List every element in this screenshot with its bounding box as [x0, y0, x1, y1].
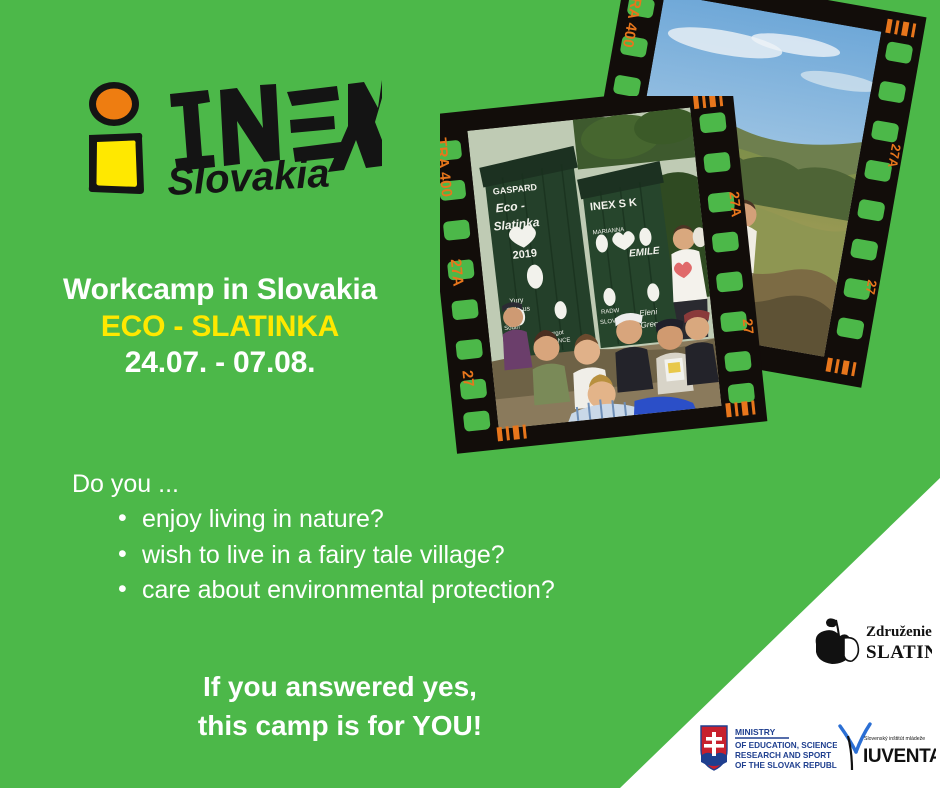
inex-slovakia-logo: Slovakia	[82, 78, 382, 198]
call-to-action-block: If you answered yes, this camp is for YO…	[40, 668, 640, 745]
svg-text:2019: 2019	[512, 247, 538, 261]
slatinka-line-2: SLATINKA	[866, 642, 932, 663]
iuventa-logo: Slovenský inštitút mládeže IUVENTA	[836, 718, 936, 774]
questions-list: enjoy living in nature? wish to live in …	[72, 502, 632, 609]
questions-intro: Do you ...	[72, 468, 632, 500]
svg-text:27: 27	[458, 369, 477, 387]
iuventa-wordmark: IUVENTA	[863, 746, 936, 767]
headline-line-1: Workcamp in Slovakia	[0, 272, 440, 309]
ministry-line-4: OF THE SLOVAK REPUBLIC	[735, 761, 837, 770]
ministry-line-1: MINISTRY	[735, 727, 776, 737]
svg-text:Slovakia: Slovakia	[166, 152, 330, 198]
filmstrip-front-photo: GASPARD Eco - Slatinka 2019 Yury Belarus…	[440, 96, 796, 468]
svg-text:27A: 27A	[726, 191, 745, 218]
svg-text:27: 27	[740, 318, 758, 335]
poster-canvas: Slovakia	[0, 0, 940, 788]
headline-line-2: ECO - SLATINKA	[0, 309, 440, 346]
list-item: care about environmental protection?	[118, 573, 632, 609]
svg-text:27A: 27A	[447, 258, 467, 287]
cta-line-2: this camp is for YOU!	[40, 707, 640, 746]
questions-block: Do you ... enjoy living in nature? wish …	[72, 468, 632, 609]
svg-text:27: 27	[863, 279, 880, 296]
zdruzenie-slatinka-logo: Združenie SLATINKA	[806, 614, 932, 672]
ministry-of-education-logo: MINISTRY OF EDUCATION, SCIENCE, RESEARCH…	[697, 722, 837, 774]
list-item: enjoy living in nature?	[118, 502, 632, 538]
iuventa-tagline: Slovenský inštitút mládeže	[864, 736, 925, 742]
list-item: wish to live in a fairy tale village?	[118, 538, 632, 574]
headline-block: Workcamp in Slovakia ECO - SLATINKA 24.0…	[0, 272, 440, 382]
headline-dates: 24.07. - 07.08.	[0, 345, 440, 382]
ministry-line-3: RESEARCH AND SPORT	[735, 751, 831, 760]
slatinka-line-1: Združenie	[866, 624, 932, 640]
ministry-line-2: OF EDUCATION, SCIENCE,	[735, 741, 837, 750]
cta-line-1: If you answered yes,	[40, 668, 640, 707]
